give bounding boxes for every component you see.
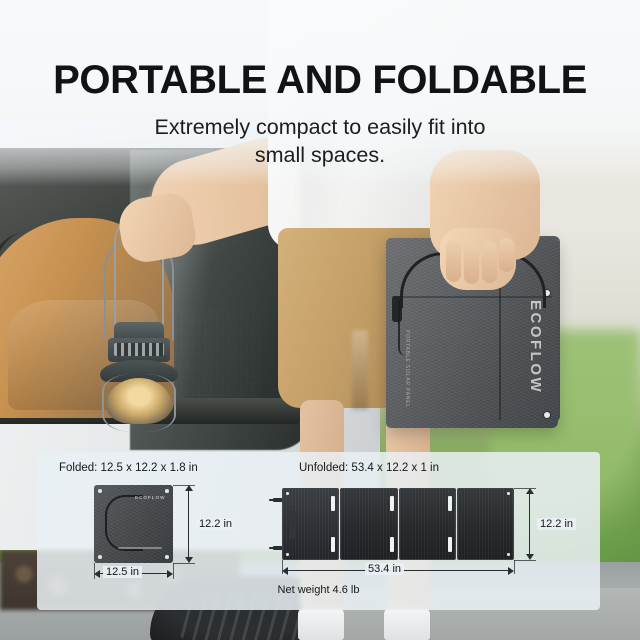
grommet (98, 555, 102, 559)
hinge-slot (331, 537, 335, 552)
marketing-image: ECOFLOW PORTABLE SOLAR PANEL PORTABLE AN… (0, 0, 640, 640)
grommet (286, 553, 289, 556)
grommet (507, 492, 510, 495)
hinge-slot (390, 496, 394, 511)
unfolded-height-arrow (529, 493, 530, 555)
panel-segment-3 (399, 488, 456, 560)
unfolded-panel-illustration (282, 488, 514, 560)
person-sock-left (298, 608, 344, 640)
hinge-slot (331, 496, 335, 511)
grommet (165, 555, 169, 559)
lantern-vent (108, 338, 170, 362)
finger (499, 238, 514, 272)
dim-tick (514, 560, 536, 561)
lantern-globe (106, 378, 172, 424)
finger (464, 242, 479, 284)
dim-tick (173, 563, 195, 564)
folded-height-arrow (188, 490, 189, 558)
duffel-bag-strap (0, 229, 76, 411)
net-weight-label: Net weight 4.6 lb (37, 584, 600, 596)
subtitle-line-1: Extremely compact to easily fit into (0, 113, 640, 141)
folded-panel-handle (105, 495, 143, 551)
folded-panel-illustration: ECOFLOW (94, 485, 173, 563)
ecoflow-logo: ECOFLOW (527, 300, 544, 394)
dimensions-panel: Folded: 12.5 x 12.2 x 1.8 in Unfolded: 5… (37, 452, 600, 610)
hand-holding-case (440, 228, 516, 290)
finger (446, 240, 461, 282)
folded-panel-strap (118, 547, 162, 549)
hinge-slot (448, 496, 452, 511)
hinge-slot (448, 537, 452, 552)
hinge-slot (390, 537, 394, 552)
panel-segment-2 (340, 488, 397, 560)
dim-tick (173, 563, 174, 579)
folded-height-label: 12.2 in (196, 518, 235, 530)
unfolded-width-label: 53.4 in (365, 563, 404, 575)
junction-box (289, 511, 296, 539)
dim-tick (514, 560, 515, 574)
subtitle-line-2: small spaces. (0, 141, 640, 169)
panel-segment-1 (282, 488, 339, 560)
grommet (98, 489, 102, 493)
grommet (165, 489, 169, 493)
page-title: PORTABLE AND FOLDABLE (0, 58, 640, 103)
unfolded-height-label: 12.2 in (537, 518, 576, 530)
page-subtitle: Extremely compact to easily fit into sma… (0, 113, 640, 169)
grommet (286, 492, 289, 495)
panel-segment-4 (457, 488, 514, 560)
person-sock-right (384, 608, 430, 640)
case-grommet (544, 412, 550, 418)
folded-panel-logo: ECOFLOW (135, 495, 165, 500)
case-side-text: PORTABLE SOLAR PANEL (404, 330, 410, 408)
folded-width-label: 12.5 in (103, 566, 142, 578)
grommet (507, 553, 510, 556)
finger (482, 241, 497, 283)
folded-title: Folded: 12.5 x 12.2 x 1.8 in (59, 462, 198, 474)
unfolded-title: Unfolded: 53.4 x 12.2 x 1 in (299, 462, 439, 474)
shorts-seam (352, 330, 368, 410)
